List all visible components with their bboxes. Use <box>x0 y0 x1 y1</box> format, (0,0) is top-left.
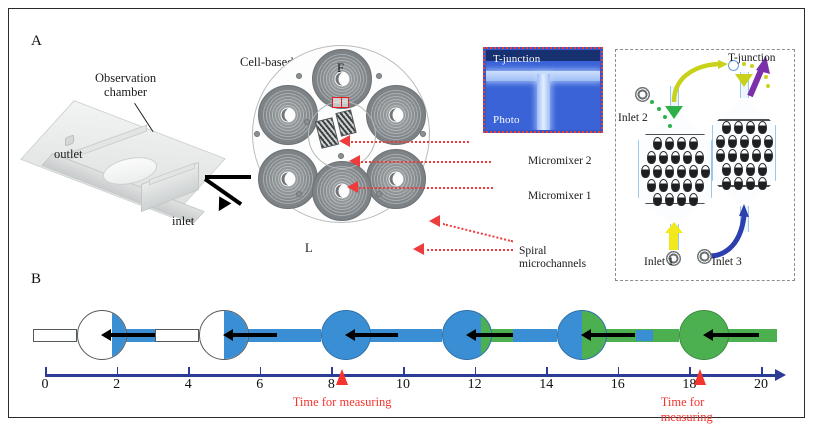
cell-row <box>639 193 711 206</box>
spiral-unit-lower-left <box>258 149 318 209</box>
timeline-panel: 02468101214161820 Time for measuringTime… <box>37 295 779 411</box>
annotation-micromixer-2: Micromixer 2 <box>528 155 592 168</box>
flow-direction-arrow <box>110 333 157 337</box>
axis-tick-label: 14 <box>539 377 553 393</box>
inlet2-path-dot <box>650 100 654 104</box>
outlet-channel <box>398 329 442 342</box>
annotation-spiral-microchannels: Spiral microchannels <box>519 245 586 271</box>
axis-tick <box>260 367 262 375</box>
cell-row <box>639 165 711 178</box>
axis-tick-label: 20 <box>754 377 768 393</box>
flow-direction-arrow <box>590 333 637 337</box>
spiral-swirl <box>390 173 403 186</box>
spiral-swirl <box>390 109 403 122</box>
connector-micromixer-1-arrow <box>347 181 358 193</box>
axis-tick <box>689 367 691 375</box>
connector-spiral-upper-arrow <box>429 215 440 227</box>
axis-tick <box>117 367 119 375</box>
inlet3-label: Inlet 3 <box>712 256 742 269</box>
t-junction-vertical-channel <box>537 74 550 130</box>
timeline-axis-arrow <box>775 369 786 381</box>
connector-spiral-lower-arrow <box>413 243 424 255</box>
micromixer-schematic: Inlet 2 Inlet 1 Inlet 3 T-junction <box>615 49 795 281</box>
t-junction-photo-caption: Photo <box>493 114 520 126</box>
inlet2-path-dot <box>657 107 661 111</box>
disc-node <box>376 73 382 79</box>
inlet2-path-dot <box>668 124 672 128</box>
disc-node <box>304 119 310 125</box>
measure-marker-label: Time for measuring <box>661 395 740 425</box>
spiral-swirl <box>282 109 295 122</box>
axis-tick-label: 2 <box>113 377 120 393</box>
axis-tick-label: 4 <box>185 377 192 393</box>
outlet-channel <box>155 329 199 342</box>
axis-tick <box>761 367 763 375</box>
axis-tick <box>45 367 47 375</box>
cell-row <box>713 177 775 190</box>
annotation-micromixer-1: Micromixer 1 <box>528 190 592 203</box>
disc-marker-f: F <box>337 61 344 75</box>
flow-direction-arrow <box>232 333 279 337</box>
connector-t-junction-arrow <box>339 135 350 147</box>
t-junction-photo-title: T-junction <box>493 53 540 65</box>
spiral-unit-bottom <box>312 161 372 221</box>
cell-row <box>713 121 775 134</box>
axis-tick-label: 0 <box>42 377 49 393</box>
axis-tick <box>403 367 405 375</box>
disc-node <box>254 131 260 137</box>
axis-tick <box>188 367 190 375</box>
outlet-channel <box>33 329 77 342</box>
disc-node <box>338 153 344 159</box>
chamber-bar-top <box>642 134 708 135</box>
flow-direction-arrow <box>712 333 759 337</box>
chip-outlet-label: outlet <box>54 147 82 161</box>
figure-frame: A Observation chamber outlet inlet Cell-… <box>8 8 805 418</box>
inlet2-marker-icon <box>636 88 649 101</box>
axis-tick <box>546 367 548 375</box>
spiral-swirl <box>282 173 295 186</box>
axis-tick-label: 6 <box>256 377 263 393</box>
disc-marker-l: L <box>305 241 313 255</box>
t-junction-marker-box <box>332 97 349 108</box>
inlet1-arrow-head <box>665 222 683 233</box>
t-junction-label: T-junction <box>728 52 776 65</box>
outlet-channel <box>635 329 679 342</box>
disc-node <box>376 191 382 197</box>
panel-a-label: A <box>31 33 42 50</box>
inlet2-arrow-head <box>665 106 683 119</box>
connector-spiral-upper <box>443 223 513 242</box>
mixing-chamber-right <box>712 96 776 210</box>
axis-tick <box>618 367 620 375</box>
inlet3-curve-path <box>702 200 772 262</box>
measure-marker-triangle <box>336 369 348 385</box>
mixing-chamber-left <box>638 110 712 228</box>
outlet-channel-segment <box>636 330 654 341</box>
axis-tick <box>475 367 477 375</box>
disc-node <box>296 73 302 79</box>
measure-marker-label: Time for measuring <box>293 395 392 410</box>
axis-tick-label: 16 <box>611 377 625 393</box>
axis-tick-label: 8 <box>328 377 335 393</box>
measure-marker-triangle <box>694 369 706 385</box>
inlet3-marker-icon <box>698 250 711 263</box>
cell-row <box>639 151 711 164</box>
chip-to-disc-arrow <box>205 175 251 179</box>
inlet2-label: Inlet 2 <box>618 112 648 125</box>
mix-curve-path <box>660 58 730 104</box>
cell-row <box>639 179 711 192</box>
axis-tick <box>331 367 333 375</box>
disc-node <box>420 131 426 137</box>
connector-micromixer-2 <box>361 161 491 163</box>
observation-chamber-label: Observation chamber <box>95 71 156 99</box>
t-junction-photo-inset: T-junction Photo <box>483 47 603 133</box>
connector-micromixer-1 <box>359 187 493 189</box>
t-junction-photo-image: T-junction Photo <box>486 50 600 130</box>
connector-micromixer-2-arrow <box>349 155 360 167</box>
outlet-channel <box>277 329 321 342</box>
outlet-channel <box>513 329 557 342</box>
connector-spiral-lower <box>427 249 513 251</box>
cell-row <box>639 137 711 150</box>
axis-tick-label: 10 <box>396 377 410 393</box>
chip-inlet-label: inlet <box>172 214 194 228</box>
axis-tick-label: 12 <box>468 377 482 393</box>
loc-chip-illustration <box>37 101 237 231</box>
inlet1-arrow-shaft <box>669 232 678 250</box>
spiral-unit-lower-right <box>366 149 426 209</box>
cell-row <box>713 135 775 148</box>
cell-row <box>713 163 775 176</box>
inlet1-label: Inlet 1 <box>644 256 674 269</box>
disc-node <box>296 191 302 197</box>
timeline-axis <box>45 374 775 377</box>
connector-t-junction <box>351 141 469 143</box>
panel-b-label: B <box>31 271 41 288</box>
cell-row <box>713 149 775 162</box>
flow-direction-arrow <box>354 333 401 337</box>
